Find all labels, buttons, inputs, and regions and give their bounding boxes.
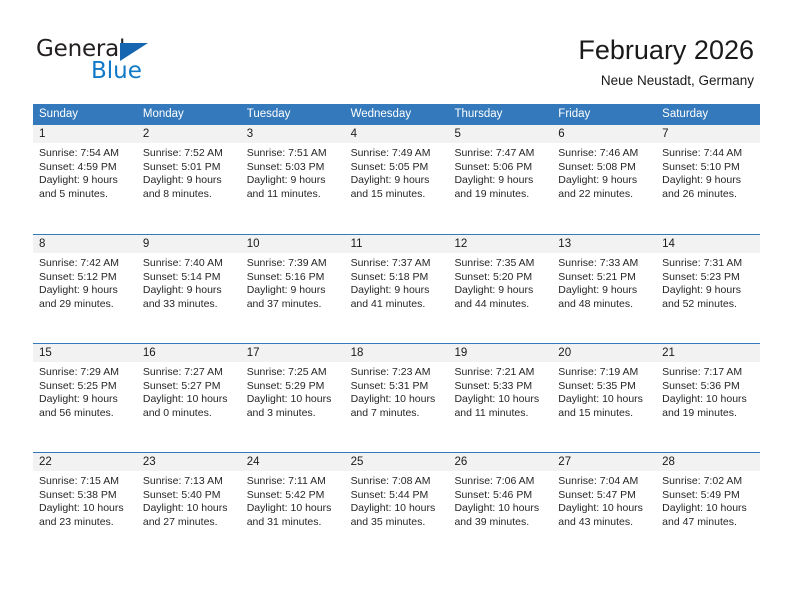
sunset-time: Sunset: 5:10 PM xyxy=(662,161,754,175)
daylight-line1: Daylight: 10 hours xyxy=(143,502,235,516)
daylight-line2: and 3 minutes. xyxy=(247,407,339,421)
day-cell[interactable]: 14 Sunrise: 7:31 AM Sunset: 5:23 PM Dayl… xyxy=(656,235,760,343)
sunrise-time: Sunrise: 7:23 AM xyxy=(351,366,443,380)
daylight-line1: Daylight: 9 hours xyxy=(39,284,131,298)
daylight-line1: Daylight: 10 hours xyxy=(351,502,443,516)
daylight-line1: Daylight: 10 hours xyxy=(351,393,443,407)
daylight-line2: and 0 minutes. xyxy=(143,407,235,421)
weekday-header-thursday: Thursday xyxy=(448,104,552,125)
daylight-line2: and 5 minutes. xyxy=(39,188,131,202)
logo-text-blue: Blue xyxy=(91,58,142,84)
day-details: Sunrise: 7:23 AM Sunset: 5:31 PM Dayligh… xyxy=(345,362,449,420)
day-number: 8 xyxy=(33,235,137,253)
day-number: 10 xyxy=(241,235,345,253)
day-number: 17 xyxy=(241,344,345,362)
day-number: 7 xyxy=(656,125,760,143)
week-row: 22 Sunrise: 7:15 AM Sunset: 5:38 PM Dayl… xyxy=(33,452,760,561)
day-number: 15 xyxy=(33,344,137,362)
daylight-line1: Daylight: 9 hours xyxy=(143,174,235,188)
weekday-header-saturday: Saturday xyxy=(656,104,760,125)
sunrise-time: Sunrise: 7:11 AM xyxy=(247,475,339,489)
calendar-grid: Sunday Monday Tuesday Wednesday Thursday… xyxy=(33,104,760,561)
daylight-line1: Daylight: 10 hours xyxy=(39,502,131,516)
title-block: February 2026 Neue Neustadt, Germany xyxy=(578,34,754,91)
daylight-line1: Daylight: 9 hours xyxy=(558,174,650,188)
day-details: Sunrise: 7:19 AM Sunset: 5:35 PM Dayligh… xyxy=(552,362,656,420)
sunrise-time: Sunrise: 7:19 AM xyxy=(558,366,650,380)
daylight-line2: and 29 minutes. xyxy=(39,298,131,312)
sunset-time: Sunset: 5:25 PM xyxy=(39,380,131,394)
day-number: 9 xyxy=(137,235,241,253)
day-details: Sunrise: 7:47 AM Sunset: 5:06 PM Dayligh… xyxy=(448,143,552,201)
day-cell[interactable]: 2 Sunrise: 7:52 AM Sunset: 5:01 PM Dayli… xyxy=(137,125,241,234)
calendar-page: General Blue February 2026 Neue Neustadt… xyxy=(0,0,792,612)
day-details: Sunrise: 7:40 AM Sunset: 5:14 PM Dayligh… xyxy=(137,253,241,311)
daylight-line1: Daylight: 9 hours xyxy=(454,174,546,188)
day-cell[interactable]: 25 Sunrise: 7:08 AM Sunset: 5:44 PM Dayl… xyxy=(345,453,449,561)
daylight-line2: and 11 minutes. xyxy=(454,407,546,421)
daylight-line2: and 15 minutes. xyxy=(558,407,650,421)
daylight-line2: and 44 minutes. xyxy=(454,298,546,312)
day-details: Sunrise: 7:54 AM Sunset: 4:59 PM Dayligh… xyxy=(33,143,137,201)
day-details: Sunrise: 7:13 AM Sunset: 5:40 PM Dayligh… xyxy=(137,471,241,529)
daylight-line1: Daylight: 9 hours xyxy=(558,284,650,298)
daylight-line1: Daylight: 10 hours xyxy=(558,393,650,407)
daylight-line1: Daylight: 9 hours xyxy=(351,174,443,188)
day-cell[interactable]: 23 Sunrise: 7:13 AM Sunset: 5:40 PM Dayl… xyxy=(137,453,241,561)
daylight-line2: and 43 minutes. xyxy=(558,516,650,530)
sunrise-time: Sunrise: 7:42 AM xyxy=(39,257,131,271)
day-number: 14 xyxy=(656,235,760,253)
sunrise-time: Sunrise: 7:31 AM xyxy=(662,257,754,271)
daylight-line1: Daylight: 9 hours xyxy=(662,174,754,188)
weekday-header-tuesday: Tuesday xyxy=(241,104,345,125)
sunset-time: Sunset: 5:42 PM xyxy=(247,489,339,503)
sunrise-time: Sunrise: 7:54 AM xyxy=(39,147,131,161)
sunrise-time: Sunrise: 7:40 AM xyxy=(143,257,235,271)
day-details: Sunrise: 7:44 AM Sunset: 5:10 PM Dayligh… xyxy=(656,143,760,201)
daylight-line2: and 19 minutes. xyxy=(454,188,546,202)
sunset-time: Sunset: 5:31 PM xyxy=(351,380,443,394)
daylight-line2: and 19 minutes. xyxy=(662,407,754,421)
sunset-time: Sunset: 5:40 PM xyxy=(143,489,235,503)
daylight-line2: and 27 minutes. xyxy=(143,516,235,530)
day-details: Sunrise: 7:04 AM Sunset: 5:47 PM Dayligh… xyxy=(552,471,656,529)
day-number: 3 xyxy=(241,125,345,143)
sunrise-time: Sunrise: 7:04 AM xyxy=(558,475,650,489)
daylight-line2: and 47 minutes. xyxy=(662,516,754,530)
day-number: 11 xyxy=(345,235,449,253)
day-cell[interactable]: 3 Sunrise: 7:51 AM Sunset: 5:03 PM Dayli… xyxy=(241,125,345,234)
page-subtitle: Neue Neustadt, Germany xyxy=(578,71,754,91)
day-details: Sunrise: 7:37 AM Sunset: 5:18 PM Dayligh… xyxy=(345,253,449,311)
week-row: 15 Sunrise: 7:29 AM Sunset: 5:25 PM Dayl… xyxy=(33,343,760,452)
day-cell[interactable]: 7 Sunrise: 7:44 AM Sunset: 5:10 PM Dayli… xyxy=(656,125,760,234)
sunset-time: Sunset: 5:33 PM xyxy=(454,380,546,394)
sunrise-time: Sunrise: 7:33 AM xyxy=(558,257,650,271)
day-details: Sunrise: 7:06 AM Sunset: 5:46 PM Dayligh… xyxy=(448,471,552,529)
day-details: Sunrise: 7:29 AM Sunset: 5:25 PM Dayligh… xyxy=(33,362,137,420)
sunset-time: Sunset: 5:27 PM xyxy=(143,380,235,394)
sunrise-time: Sunrise: 7:47 AM xyxy=(454,147,546,161)
day-cell[interactable]: 9 Sunrise: 7:40 AM Sunset: 5:14 PM Dayli… xyxy=(137,235,241,343)
day-cell[interactable]: 16 Sunrise: 7:27 AM Sunset: 5:27 PM Dayl… xyxy=(137,344,241,452)
day-number: 13 xyxy=(552,235,656,253)
daylight-line1: Daylight: 9 hours xyxy=(454,284,546,298)
day-number: 4 xyxy=(345,125,449,143)
sunset-time: Sunset: 5:46 PM xyxy=(454,489,546,503)
sunrise-time: Sunrise: 7:52 AM xyxy=(143,147,235,161)
day-details: Sunrise: 7:08 AM Sunset: 5:44 PM Dayligh… xyxy=(345,471,449,529)
weekday-header-monday: Monday xyxy=(137,104,241,125)
day-number: 18 xyxy=(345,344,449,362)
day-details: Sunrise: 7:25 AM Sunset: 5:29 PM Dayligh… xyxy=(241,362,345,420)
sunrise-time: Sunrise: 7:49 AM xyxy=(351,147,443,161)
day-cell[interactable]: 8 Sunrise: 7:42 AM Sunset: 5:12 PM Dayli… xyxy=(33,235,137,343)
day-cell[interactable]: 17 Sunrise: 7:25 AM Sunset: 5:29 PM Dayl… xyxy=(241,344,345,452)
day-details: Sunrise: 7:46 AM Sunset: 5:08 PM Dayligh… xyxy=(552,143,656,201)
daylight-line1: Daylight: 10 hours xyxy=(454,393,546,407)
sunrise-time: Sunrise: 7:25 AM xyxy=(247,366,339,380)
day-number: 25 xyxy=(345,453,449,471)
day-number: 23 xyxy=(137,453,241,471)
sunset-time: Sunset: 5:16 PM xyxy=(247,271,339,285)
day-details: Sunrise: 7:49 AM Sunset: 5:05 PM Dayligh… xyxy=(345,143,449,201)
day-cell[interactable]: 13 Sunrise: 7:33 AM Sunset: 5:21 PM Dayl… xyxy=(552,235,656,343)
day-details: Sunrise: 7:39 AM Sunset: 5:16 PM Dayligh… xyxy=(241,253,345,311)
day-cell[interactable]: 11 Sunrise: 7:37 AM Sunset: 5:18 PM Dayl… xyxy=(345,235,449,343)
day-cell[interactable]: 1 Sunrise: 7:54 AM Sunset: 4:59 PM Dayli… xyxy=(33,125,137,234)
sunrise-time: Sunrise: 7:46 AM xyxy=(558,147,650,161)
day-cell[interactable]: 24 Sunrise: 7:11 AM Sunset: 5:42 PM Dayl… xyxy=(241,453,345,561)
day-details: Sunrise: 7:35 AM Sunset: 5:20 PM Dayligh… xyxy=(448,253,552,311)
day-cell[interactable]: 18 Sunrise: 7:23 AM Sunset: 5:31 PM Dayl… xyxy=(345,344,449,452)
day-details: Sunrise: 7:15 AM Sunset: 5:38 PM Dayligh… xyxy=(33,471,137,529)
sunset-time: Sunset: 5:20 PM xyxy=(454,271,546,285)
day-number: 12 xyxy=(448,235,552,253)
sunrise-time: Sunrise: 7:29 AM xyxy=(39,366,131,380)
daylight-line2: and 56 minutes. xyxy=(39,407,131,421)
sunrise-time: Sunrise: 7:17 AM xyxy=(662,366,754,380)
sunset-time: Sunset: 5:29 PM xyxy=(247,380,339,394)
sunset-time: Sunset: 5:38 PM xyxy=(39,489,131,503)
sunrise-time: Sunrise: 7:06 AM xyxy=(454,475,546,489)
sunset-time: Sunset: 5:47 PM xyxy=(558,489,650,503)
sunset-time: Sunset: 5:12 PM xyxy=(39,271,131,285)
daylight-line1: Daylight: 10 hours xyxy=(454,502,546,516)
day-number: 5 xyxy=(448,125,552,143)
daylight-line1: Daylight: 10 hours xyxy=(662,502,754,516)
day-details: Sunrise: 7:11 AM Sunset: 5:42 PM Dayligh… xyxy=(241,471,345,529)
general-blue-logo[interactable]: General Blue xyxy=(36,36,216,88)
daylight-line1: Daylight: 9 hours xyxy=(247,174,339,188)
sunrise-time: Sunrise: 7:27 AM xyxy=(143,366,235,380)
daylight-line2: and 15 minutes. xyxy=(351,188,443,202)
daylight-line1: Daylight: 10 hours xyxy=(247,502,339,516)
daylight-line2: and 37 minutes. xyxy=(247,298,339,312)
daylight-line1: Daylight: 9 hours xyxy=(247,284,339,298)
sunset-time: Sunset: 4:59 PM xyxy=(39,161,131,175)
sunset-time: Sunset: 5:01 PM xyxy=(143,161,235,175)
day-cell[interactable]: 21 Sunrise: 7:17 AM Sunset: 5:36 PM Dayl… xyxy=(656,344,760,452)
week-row: 1 Sunrise: 7:54 AM Sunset: 4:59 PM Dayli… xyxy=(33,125,760,234)
day-details: Sunrise: 7:52 AM Sunset: 5:01 PM Dayligh… xyxy=(137,143,241,201)
day-number: 21 xyxy=(656,344,760,362)
day-number: 6 xyxy=(552,125,656,143)
day-cell[interactable]: 5 Sunrise: 7:47 AM Sunset: 5:06 PM Dayli… xyxy=(448,125,552,234)
sunset-time: Sunset: 5:23 PM xyxy=(662,271,754,285)
day-number: 1 xyxy=(33,125,137,143)
daylight-line1: Daylight: 10 hours xyxy=(662,393,754,407)
day-number: 2 xyxy=(137,125,241,143)
daylight-line2: and 11 minutes. xyxy=(247,188,339,202)
daylight-line2: and 33 minutes. xyxy=(143,298,235,312)
day-number: 28 xyxy=(656,453,760,471)
sunset-time: Sunset: 5:08 PM xyxy=(558,161,650,175)
sunset-time: Sunset: 5:05 PM xyxy=(351,161,443,175)
sunset-time: Sunset: 5:35 PM xyxy=(558,380,650,394)
page-title: February 2026 xyxy=(578,34,754,66)
daylight-line2: and 7 minutes. xyxy=(351,407,443,421)
weekday-header-row: Sunday Monday Tuesday Wednesday Thursday… xyxy=(33,104,760,125)
day-details: Sunrise: 7:02 AM Sunset: 5:49 PM Dayligh… xyxy=(656,471,760,529)
day-cell[interactable]: 4 Sunrise: 7:49 AM Sunset: 5:05 PM Dayli… xyxy=(345,125,449,234)
day-cell[interactable]: 22 Sunrise: 7:15 AM Sunset: 5:38 PM Dayl… xyxy=(33,453,137,561)
day-details: Sunrise: 7:33 AM Sunset: 5:21 PM Dayligh… xyxy=(552,253,656,311)
page-header: General Blue February 2026 Neue Neustadt… xyxy=(0,0,792,103)
weekday-header-friday: Friday xyxy=(552,104,656,125)
day-cell[interactable]: 19 Sunrise: 7:21 AM Sunset: 5:33 PM Dayl… xyxy=(448,344,552,452)
daylight-line2: and 8 minutes. xyxy=(143,188,235,202)
sunrise-time: Sunrise: 7:35 AM xyxy=(454,257,546,271)
day-details: Sunrise: 7:51 AM Sunset: 5:03 PM Dayligh… xyxy=(241,143,345,201)
day-number: 19 xyxy=(448,344,552,362)
daylight-line2: and 31 minutes. xyxy=(247,516,339,530)
day-details: Sunrise: 7:27 AM Sunset: 5:27 PM Dayligh… xyxy=(137,362,241,420)
day-number: 27 xyxy=(552,453,656,471)
weekday-header-sunday: Sunday xyxy=(33,104,137,125)
daylight-line1: Daylight: 9 hours xyxy=(39,393,131,407)
day-details: Sunrise: 7:17 AM Sunset: 5:36 PM Dayligh… xyxy=(656,362,760,420)
daylight-line1: Daylight: 10 hours xyxy=(143,393,235,407)
weekday-header-wednesday: Wednesday xyxy=(345,104,449,125)
daylight-line1: Daylight: 10 hours xyxy=(558,502,650,516)
day-cell[interactable]: 12 Sunrise: 7:35 AM Sunset: 5:20 PM Dayl… xyxy=(448,235,552,343)
sunrise-time: Sunrise: 7:21 AM xyxy=(454,366,546,380)
daylight-line2: and 22 minutes. xyxy=(558,188,650,202)
sunrise-time: Sunrise: 7:02 AM xyxy=(662,475,754,489)
day-cell[interactable]: 6 Sunrise: 7:46 AM Sunset: 5:08 PM Dayli… xyxy=(552,125,656,234)
day-cell[interactable]: 20 Sunrise: 7:19 AM Sunset: 5:35 PM Dayl… xyxy=(552,344,656,452)
day-details: Sunrise: 7:31 AM Sunset: 5:23 PM Dayligh… xyxy=(656,253,760,311)
sunrise-time: Sunrise: 7:44 AM xyxy=(662,147,754,161)
sunset-time: Sunset: 5:03 PM xyxy=(247,161,339,175)
daylight-line1: Daylight: 9 hours xyxy=(351,284,443,298)
sunset-time: Sunset: 5:49 PM xyxy=(662,489,754,503)
day-cell[interactable]: 10 Sunrise: 7:39 AM Sunset: 5:16 PM Dayl… xyxy=(241,235,345,343)
daylight-line1: Daylight: 10 hours xyxy=(247,393,339,407)
day-number: 24 xyxy=(241,453,345,471)
daylight-line2: and 52 minutes. xyxy=(662,298,754,312)
sunrise-time: Sunrise: 7:37 AM xyxy=(351,257,443,271)
daylight-line2: and 41 minutes. xyxy=(351,298,443,312)
daylight-line2: and 39 minutes. xyxy=(454,516,546,530)
daylight-line2: and 26 minutes. xyxy=(662,188,754,202)
daylight-line1: Daylight: 9 hours xyxy=(39,174,131,188)
daylight-line1: Daylight: 9 hours xyxy=(143,284,235,298)
day-cell[interactable]: 28 Sunrise: 7:02 AM Sunset: 5:49 PM Dayl… xyxy=(656,453,760,561)
daylight-line2: and 48 minutes. xyxy=(558,298,650,312)
day-details: Sunrise: 7:42 AM Sunset: 5:12 PM Dayligh… xyxy=(33,253,137,311)
sunrise-time: Sunrise: 7:13 AM xyxy=(143,475,235,489)
daylight-line1: Daylight: 9 hours xyxy=(662,284,754,298)
sunset-time: Sunset: 5:44 PM xyxy=(351,489,443,503)
day-details: Sunrise: 7:21 AM Sunset: 5:33 PM Dayligh… xyxy=(448,362,552,420)
day-number: 16 xyxy=(137,344,241,362)
sunset-time: Sunset: 5:14 PM xyxy=(143,271,235,285)
day-number: 26 xyxy=(448,453,552,471)
sunset-time: Sunset: 5:36 PM xyxy=(662,380,754,394)
sunrise-time: Sunrise: 7:51 AM xyxy=(247,147,339,161)
daylight-line2: and 35 minutes. xyxy=(351,516,443,530)
day-number: 22 xyxy=(33,453,137,471)
sunset-time: Sunset: 5:06 PM xyxy=(454,161,546,175)
week-row: 8 Sunrise: 7:42 AM Sunset: 5:12 PM Dayli… xyxy=(33,234,760,343)
sunrise-time: Sunrise: 7:39 AM xyxy=(247,257,339,271)
day-cell[interactable]: 27 Sunrise: 7:04 AM Sunset: 5:47 PM Dayl… xyxy=(552,453,656,561)
sunset-time: Sunset: 5:21 PM xyxy=(558,271,650,285)
day-cell[interactable]: 15 Sunrise: 7:29 AM Sunset: 5:25 PM Dayl… xyxy=(33,344,137,452)
sunrise-time: Sunrise: 7:15 AM xyxy=(39,475,131,489)
daylight-line2: and 23 minutes. xyxy=(39,516,131,530)
sunrise-time: Sunrise: 7:08 AM xyxy=(351,475,443,489)
day-number: 20 xyxy=(552,344,656,362)
sunset-time: Sunset: 5:18 PM xyxy=(351,271,443,285)
day-cell[interactable]: 26 Sunrise: 7:06 AM Sunset: 5:46 PM Dayl… xyxy=(448,453,552,561)
